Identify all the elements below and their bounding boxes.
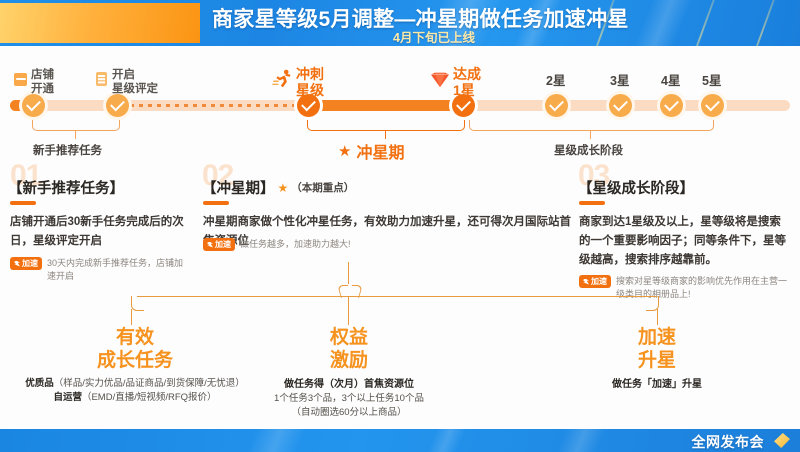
speed-badge-label-02: 加速 — [215, 240, 231, 249]
bottom-row-2b: 1个任务3个品，3个以上任务10个品 — [225, 392, 473, 406]
bottom-row-2c: （自动圈选60分以上商品） — [225, 406, 473, 420]
runner-icon — [272, 68, 294, 90]
timeline-fill-sprint — [300, 100, 460, 111]
star-icon: ★ — [338, 144, 351, 159]
header-orange-block — [0, 3, 200, 43]
bottom-row-1a-value: （样品/实力优品/品证商品/到货保障/无忧退） — [54, 378, 245, 389]
column-note-text-02: 做任务越多，加速助力越大! — [240, 238, 351, 251]
speed-badge-01: 加速 — [10, 257, 42, 270]
column-heading-03: 【星级成长阶段】 — [578, 177, 694, 198]
connector-drop-left — [131, 309, 132, 325]
page-subtitle: 4月下旬已上线 — [393, 27, 475, 46]
column-note-01: 加速 30天内完成新手推荐任务，店铺加速开启 — [10, 257, 190, 283]
header-bar: 商家星等级5月调整—冲星期做任务加速冲星 4月下旬已上线 — [0, 0, 800, 46]
connector-corner-left — [131, 296, 144, 311]
bracket-growth — [469, 120, 714, 131]
bottom-row-3a: 做任务「加速」升星 — [535, 377, 779, 392]
timeline-node-star-2[interactable] — [545, 94, 568, 117]
column-tag-02: （本期重点） — [291, 180, 354, 195]
document-icon — [96, 72, 107, 86]
bracket-sprint-stem — [385, 130, 386, 139]
lightning-icon — [583, 279, 589, 285]
column-body-03: 商家到达1星级及以上，星等级将是搜索的一个重要影响因子；同等条件下，星等级越高，… — [579, 213, 791, 270]
bottom-row-1b-label: 自运营 — [53, 392, 82, 403]
timeline-node-shop-open[interactable] — [22, 94, 45, 117]
column-note-text-01: 30天内完成新手推荐任务，店铺加速开启 — [47, 257, 190, 283]
speed-badge-label-01: 加速 — [22, 259, 38, 268]
timeline-dashed-segment — [130, 104, 300, 107]
connector-drop-middle — [348, 296, 349, 325]
connector-hline-left — [137, 296, 350, 297]
shop-icon — [14, 73, 27, 86]
connector-hline-right — [350, 296, 657, 297]
bottom-row-1a-label: 优质品 — [25, 378, 54, 389]
footer-title: 全网发布会 — [692, 432, 765, 452]
footer-sheen — [546, 429, 614, 452]
lightning-icon — [14, 261, 20, 267]
column-body-01: 店铺开通后30新手任务完成后的次日，星级评定开启 — [10, 213, 186, 251]
column-note-02: 加速 做任务越多，加速助力越大! — [203, 238, 503, 251]
timeline-label-star-5: 5星 — [702, 74, 721, 88]
speed-badge-03: 加速 — [579, 275, 611, 288]
megaphone-icon — [774, 433, 790, 448]
column-rule-02 — [203, 201, 229, 205]
timeline-label-star-rating-l1: 开启 — [112, 68, 158, 82]
diamond-icon — [429, 71, 451, 89]
bottom-title-3-l1: 加速 — [535, 326, 779, 349]
bracket-caption-growth: 星级成长阶段 — [554, 142, 623, 158]
timeline-node-star-3[interactable] — [609, 94, 632, 117]
lightning-icon — [207, 242, 213, 248]
speed-badge-label-03: 加速 — [591, 277, 607, 286]
footer-sheen — [236, 429, 314, 452]
timeline-label-star-3: 3星 — [610, 74, 629, 88]
connector-drop-right — [657, 309, 658, 325]
slide-root: 商家星等级5月调整—冲星期做任务加速冲星 4月下旬已上线 店铺 开通 开启 星级… — [0, 0, 800, 452]
bottom-block-rights-incentive: 权益 激励 做任务得（次月）首焦资源位 1个任务3个品，3个以上任务10个品 （… — [225, 326, 473, 420]
bottom-row-1b-value: （EMD/直播/短视频/RFQ报价） — [82, 392, 217, 403]
timeline-label-reach1-l1: 达成 — [453, 66, 481, 82]
timeline-label-star-2: 2星 — [546, 74, 565, 88]
bracket-newbie-stem — [75, 130, 76, 139]
timeline-label-shop-open-l1: 店铺 — [31, 68, 54, 82]
bracket-caption-sprint: 冲星期 — [356, 139, 404, 163]
column-rule-03 — [579, 201, 605, 205]
bottom-block-speed-up: 加速 升星 做任务「加速」升星 — [535, 326, 779, 392]
connector-stem-top — [348, 262, 349, 284]
bottom-title-2-l1: 权益 — [225, 326, 473, 349]
bracket-caption-newbie: 新手推荐任务 — [33, 142, 102, 158]
timeline-label-shop-open-l2: 开通 — [31, 82, 54, 96]
column-heading-01: 【新手推荐任务】 — [8, 177, 124, 198]
timeline-node-star-rating-open[interactable] — [106, 94, 129, 117]
timeline-label-star-rating-l2: 星级评定 — [112, 82, 158, 96]
column-heading-02: 【冲星期】 — [202, 177, 275, 198]
timeline-node-star-5[interactable] — [701, 94, 724, 117]
timeline-label-sprint-l2: 星级 — [296, 82, 324, 98]
timeline-node-star-4[interactable] — [660, 94, 683, 117]
column-rule-01 — [10, 201, 36, 205]
timeline-label-star-4: 4星 — [661, 74, 680, 88]
timeline-label-reach1-l2: 1星 — [453, 82, 481, 98]
speed-badge-02: 加速 — [203, 238, 235, 251]
bottom-row-2a: 做任务得（次月）首焦资源位 — [225, 377, 473, 392]
bracket-growth-stem — [590, 130, 591, 139]
bottom-title-3-l2: 升星 — [535, 349, 779, 372]
highlight-star-icon: ★ — [278, 181, 289, 195]
bottom-title-2-l2: 激励 — [225, 349, 473, 372]
footer-bar: 全网发布会 — [0, 429, 800, 452]
timeline-label-sprint-l1: 冲刺 — [296, 66, 324, 82]
footer-sheen — [416, 429, 474, 452]
